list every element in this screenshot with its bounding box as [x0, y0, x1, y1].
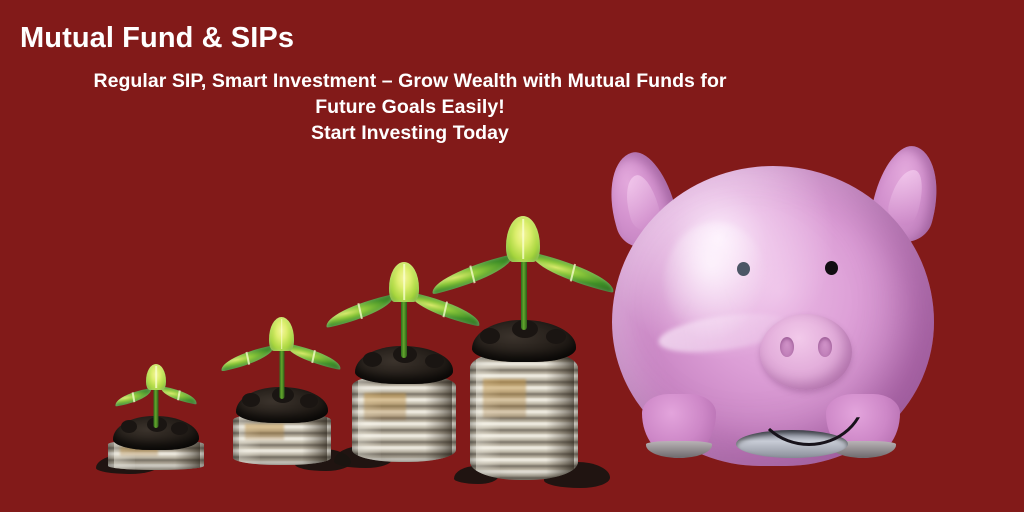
plant-leaf [159, 386, 199, 404]
plant-top-leaf [506, 216, 540, 262]
plant-leaf [323, 294, 397, 328]
plant-top-leaf [389, 262, 419, 302]
piggy-hoof [646, 441, 711, 458]
coin-stack-2 [233, 395, 331, 465]
leaf-vein [311, 350, 315, 363]
piggy-leg-left [642, 394, 716, 458]
leaf-vein [570, 264, 576, 281]
leaf-vein [469, 266, 475, 283]
soil-lump [480, 328, 500, 344]
piggy-eye-left [737, 262, 750, 276]
leaf-vein [403, 264, 405, 299]
plant-sprout [436, 222, 612, 330]
subtitle-line-1: Regular SIP, Smart Investment – Grow Wea… [22, 68, 798, 94]
soil-lump [546, 329, 566, 344]
leaf-vein [132, 392, 135, 403]
coin-stack-4 [470, 325, 578, 480]
plant-top-leaf [269, 317, 294, 351]
coin-pile [352, 374, 456, 462]
piggy-nostril-left [780, 337, 794, 357]
piggy-body [612, 166, 934, 466]
subtitle-block: Regular SIP, Smart Investment – Grow Wea… [22, 68, 798, 146]
leaf-vein [177, 390, 180, 401]
plant-leaf [219, 345, 277, 371]
plant-leaf [428, 254, 516, 294]
piggy-snout [760, 314, 852, 390]
subtitle-line-2: Future Goals Easily! [22, 94, 798, 120]
piggy-eye-right [825, 261, 838, 275]
leaf-vein [522, 219, 524, 259]
plant-sprout [116, 366, 196, 428]
piggy-bank [604, 140, 940, 488]
piggy-nostril-right [818, 337, 832, 357]
coin-stack-1 [108, 422, 204, 470]
coin-highlight [245, 424, 284, 440]
leaf-vein [155, 366, 157, 389]
leaf-vein [281, 319, 283, 349]
page-title: Mutual Fund & SIPs [20, 22, 294, 55]
mutual-fund-sip-banner: Mutual Fund & SIPs Regular SIP, Smart In… [0, 0, 1024, 512]
plant-leaf [114, 388, 154, 406]
coin-stack-3 [352, 352, 456, 462]
leaf-vein [245, 352, 249, 365]
plant-top-leaf [146, 364, 166, 390]
coin-highlight [364, 393, 406, 419]
leaf-vein [357, 303, 362, 319]
coin-pile [470, 350, 578, 480]
coin-highlight [483, 379, 526, 418]
plant-sprout [223, 321, 341, 399]
